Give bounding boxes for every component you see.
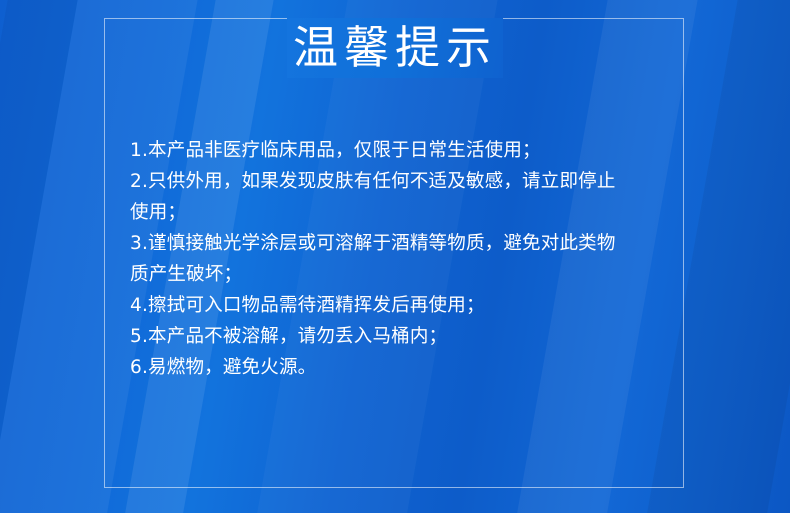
background-streak xyxy=(0,0,92,513)
notice-item: 1.本产品非医疗临床用品，仅限于日常生活使用； xyxy=(130,135,690,166)
notice-list: 1.本产品非医疗临床用品，仅限于日常生活使用； 2.只供外用，如果发现皮肤有任何… xyxy=(130,135,690,383)
promo-poster: 温馨提示 1.本产品非医疗临床用品，仅限于日常生活使用； 2.只供外用，如果发现… xyxy=(0,0,790,513)
notice-item: 4.擦拭可入口物品需待酒精挥发后再使用； xyxy=(130,290,690,321)
notice-item: 6.易燃物，避免火源。 xyxy=(130,352,690,383)
notice-item: 5.本产品不被溶解，请勿丢入马桶内； xyxy=(130,321,690,352)
notice-item: 3.谨慎接触光学涂层或可溶解于酒精等物质，避免对此类物 质产生破坏； xyxy=(130,228,690,290)
notice-item: 2.只供外用，如果发现皮肤有任何不适及敏感，请立即停止 使用； xyxy=(130,166,690,228)
